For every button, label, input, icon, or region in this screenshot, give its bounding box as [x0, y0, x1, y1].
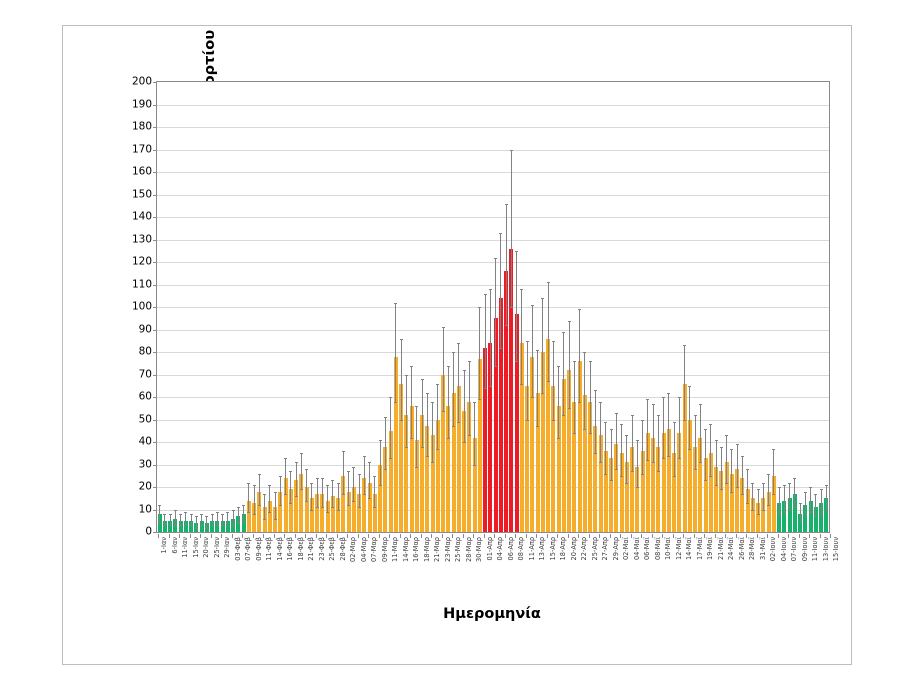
error-bar [353, 467, 354, 501]
error-bar [248, 483, 249, 512]
x-tick-mark [788, 534, 789, 538]
x-tick-mark [211, 534, 212, 538]
error-bar-cap-lower [237, 523, 240, 524]
x-tick-mark [452, 534, 453, 538]
x-tick-mark [515, 534, 516, 538]
error-bar-cap-lower [673, 476, 676, 477]
error-bar-cap-lower [515, 361, 518, 362]
error-bar-cap-upper [289, 471, 292, 472]
error-bar-cap-lower [158, 523, 161, 524]
error-bar-cap-upper [268, 485, 271, 486]
x-tick-mark [347, 534, 348, 538]
x-tick-mark [442, 534, 443, 538]
error-bar-cap-upper [568, 321, 571, 322]
error-bar-cap-lower [767, 505, 770, 506]
x-tick-label: 19-Μαϊ [707, 537, 714, 560]
error-bar-cap-lower [720, 489, 723, 490]
error-bar [243, 505, 244, 521]
error-bar [527, 341, 528, 420]
error-bar-cap-lower [604, 474, 607, 475]
error-bar-cap-lower [599, 462, 602, 463]
x-tick-mark [242, 534, 243, 538]
error-bar [506, 204, 507, 326]
error-bar-cap-upper [384, 417, 387, 418]
error-bar-cap-upper [174, 510, 177, 511]
x-tick-label: 16-Φεβ [287, 537, 294, 561]
error-bar-cap-lower [373, 507, 376, 508]
error-bar [710, 424, 711, 476]
x-tick-mark [620, 534, 621, 538]
error-bar [737, 444, 738, 487]
error-bar-cap-upper [589, 361, 592, 362]
error-bar [437, 384, 438, 449]
x-tick-label: 18-Μαρ [424, 537, 431, 562]
x-tick-mark [169, 534, 170, 538]
y-tick-label: 40 [118, 437, 152, 448]
error-bar-cap-upper [400, 339, 403, 340]
error-bar [621, 424, 622, 476]
error-bar-cap-upper [736, 444, 739, 445]
x-tick-label: 04-Μαϊ [634, 537, 641, 560]
error-bar-cap-lower [489, 386, 492, 387]
bar-group [824, 82, 829, 532]
x-tick-label: 18-Φεβ [298, 537, 305, 561]
x-tick-mark [757, 534, 758, 538]
error-bar-cap-lower [321, 507, 324, 508]
y-tick-mark [153, 532, 157, 533]
x-tick-mark [578, 534, 579, 538]
x-tick-mark [715, 534, 716, 538]
error-bar [521, 289, 522, 384]
x-tick-label: 25-Ιαν [214, 537, 221, 558]
error-bar-cap-upper [216, 512, 219, 513]
error-bar [479, 307, 480, 399]
error-bar-cap-lower [205, 528, 208, 529]
error-bar-cap-upper [431, 402, 434, 403]
error-bar-cap-lower [741, 494, 744, 495]
error-bar [800, 503, 801, 521]
error-bar-cap-lower [300, 489, 303, 490]
x-tick-mark [526, 534, 527, 538]
x-tick-mark [746, 534, 747, 538]
error-bar [411, 366, 412, 438]
error-bar-cap-lower [736, 487, 739, 488]
error-bar-cap-lower [568, 408, 571, 409]
error-bar-cap-lower [772, 494, 775, 495]
error-bar [311, 483, 312, 510]
error-bar-cap-lower [520, 384, 523, 385]
error-bar-cap-upper [557, 366, 560, 367]
error-bar-cap-upper [809, 487, 812, 488]
error-bar-cap-upper [389, 397, 392, 398]
error-bar [684, 345, 685, 419]
error-bar-cap-upper [169, 514, 172, 515]
error-bar [159, 505, 160, 523]
x-tick-label: 04-Ιουν [781, 537, 788, 561]
error-bar [332, 480, 333, 507]
error-bar [579, 309, 580, 401]
error-bar [700, 404, 701, 463]
error-bar-cap-lower [636, 487, 639, 488]
error-bar [595, 390, 596, 453]
error-bar [726, 435, 727, 482]
error-bar [668, 393, 669, 456]
error-bar [632, 415, 633, 471]
error-bar-cap-upper [316, 478, 319, 479]
error-bar-cap-upper [442, 327, 445, 328]
error-bar-cap-upper [788, 483, 791, 484]
error-bar-cap-lower [825, 510, 828, 511]
x-tick-mark [536, 534, 537, 538]
error-bar-cap-upper [688, 386, 691, 387]
bar-series [157, 82, 829, 532]
error-bar [306, 469, 307, 501]
error-bar-cap-upper [447, 366, 450, 367]
x-tick-mark [232, 534, 233, 538]
error-bar [821, 489, 822, 514]
error-bar [695, 415, 696, 469]
x-tick-label: 27-Απρ [602, 537, 609, 560]
error-bar-cap-lower [730, 492, 733, 493]
error-bar [584, 352, 585, 429]
error-bar-cap-lower [699, 462, 702, 463]
x-tick-mark [778, 534, 779, 538]
error-bar-cap-upper [547, 282, 550, 283]
x-tick-label: 24-Μαϊ [728, 537, 735, 560]
error-bar [826, 485, 827, 510]
error-bar-cap-upper [757, 489, 760, 490]
error-bar-cap-upper [699, 404, 702, 405]
error-bar-cap-upper [772, 449, 775, 450]
error-bar-cap-upper [394, 303, 397, 304]
error-bar-cap-upper [457, 343, 460, 344]
x-tick-mark [673, 534, 674, 538]
x-tick-label: 03-Φεβ [235, 537, 242, 561]
error-bar-cap-upper [562, 332, 565, 333]
error-bar [301, 453, 302, 489]
x-tick-label: 21-Μαρ [434, 537, 441, 562]
error-bar-cap-upper [804, 492, 807, 493]
error-bar-cap-lower [751, 510, 754, 511]
error-bar-cap-upper [221, 514, 224, 515]
error-bar-cap-upper [342, 451, 345, 452]
error-bar [432, 402, 433, 463]
x-tick-label: 09-Φεβ [256, 537, 263, 561]
x-tick-mark [568, 534, 569, 538]
x-tick-label: 06-Απρ [508, 537, 515, 560]
error-bar-cap-upper [704, 429, 707, 430]
error-bar-cap-lower [305, 501, 308, 502]
x-tick-mark [253, 534, 254, 538]
x-tick-mark [694, 534, 695, 538]
x-tick-mark [158, 534, 159, 538]
error-bar-cap-lower [431, 462, 434, 463]
error-bar-cap-lower [447, 438, 450, 439]
x-tick-mark [641, 534, 642, 538]
error-bar [280, 476, 281, 505]
x-tick-label: 07-Ιουν [791, 537, 798, 561]
error-bar [395, 303, 396, 402]
error-bar-cap-upper [310, 483, 313, 484]
error-bar-cap-upper [494, 258, 497, 259]
x-tick-mark [599, 534, 600, 538]
x-tick-label: 25-Μαρ [455, 537, 462, 562]
error-bar-cap-lower [174, 525, 177, 526]
error-bar [458, 343, 459, 422]
error-bar [574, 361, 575, 433]
x-tick-mark [358, 534, 359, 538]
x-tick-mark [368, 534, 369, 538]
error-bar-cap-lower [783, 512, 786, 513]
error-bar-cap-lower [709, 476, 712, 477]
error-bar-cap-lower [531, 397, 534, 398]
x-tick-label: 10-Μαϊ [665, 537, 672, 560]
x-tick-mark [431, 534, 432, 538]
x-tick-mark [421, 534, 422, 538]
error-bar-cap-lower [499, 348, 502, 349]
x-tick-mark [410, 534, 411, 538]
error-bar [810, 487, 811, 512]
error-bar-cap-upper [211, 514, 214, 515]
error-bar-cap-lower [662, 458, 665, 459]
x-tick-mark [610, 534, 611, 538]
x-tick-label: 02-Ιουν [770, 537, 777, 561]
x-tick-label: 08-Μαϊ [655, 537, 662, 560]
error-bar [217, 512, 218, 526]
x-tick-mark [274, 534, 275, 538]
error-bar-cap-upper [520, 289, 523, 290]
error-bar-cap-lower [778, 514, 781, 515]
error-bar-cap-upper [274, 492, 277, 493]
plot-area: 0102030405060708090100110120130140150160… [156, 81, 830, 533]
error-bar-cap-upper [468, 361, 471, 362]
error-bar-cap-lower [704, 480, 707, 481]
error-bar [359, 474, 360, 508]
x-tick-mark [179, 534, 180, 538]
error-bar-cap-lower [694, 469, 697, 470]
error-bar-cap-lower [274, 519, 277, 520]
error-bar-cap-upper [190, 514, 193, 515]
error-bar-cap-lower [809, 512, 812, 513]
error-bar [422, 379, 423, 447]
error-bar [343, 451, 344, 494]
error-bar [548, 282, 549, 381]
error-bar [416, 406, 417, 467]
error-bar-cap-lower [746, 503, 749, 504]
error-bar-cap-lower [295, 496, 298, 497]
error-bar-cap-upper [489, 289, 492, 290]
error-bar [742, 456, 743, 494]
error-bar-cap-upper [358, 474, 361, 475]
error-bar-cap-lower [347, 505, 350, 506]
x-tick-label: 14-Μαϊ [686, 537, 693, 560]
x-tick-label: 28-Μαρ [466, 537, 473, 562]
error-bar-cap-lower [562, 415, 565, 416]
error-bar-cap-upper [258, 474, 261, 475]
error-bar-cap-lower [190, 525, 193, 526]
error-bar-cap-upper [762, 483, 765, 484]
error-bar-cap-lower [337, 510, 340, 511]
error-bar-cap-upper [205, 516, 208, 517]
error-bar [500, 233, 501, 348]
error-bar-cap-lower [494, 366, 497, 367]
x-tick-mark [337, 534, 338, 538]
x-tick-mark [767, 534, 768, 538]
error-bar-cap-lower [263, 519, 266, 520]
x-tick-mark [221, 534, 222, 538]
error-bar [716, 440, 717, 485]
error-bar [485, 294, 486, 389]
y-tick-label: 80 [118, 347, 152, 358]
error-bar-cap-upper [331, 480, 334, 481]
error-bar [170, 514, 171, 525]
x-tick-mark [473, 534, 474, 538]
x-tick-label: 29-Απρ [613, 537, 620, 560]
x-tick-mark [305, 534, 306, 538]
error-bar-cap-upper [641, 420, 644, 421]
error-bar [474, 402, 475, 465]
y-tick-label: 110 [118, 279, 152, 290]
error-bar [348, 471, 349, 505]
error-bar-cap-lower [505, 325, 508, 326]
error-bar [369, 462, 370, 498]
y-tick-label: 170 [118, 144, 152, 155]
error-bar-cap-lower [394, 402, 397, 403]
error-bar-cap-upper [452, 352, 455, 353]
error-bar-cap-lower [410, 438, 413, 439]
error-bar-cap-lower [589, 433, 592, 434]
error-bar-cap-upper [583, 352, 586, 353]
error-bar-cap-lower [573, 433, 576, 434]
error-bar [626, 435, 627, 482]
error-bar-cap-lower [578, 402, 581, 403]
x-tick-mark [662, 534, 663, 538]
error-bar-cap-upper [678, 397, 681, 398]
error-bar-cap-upper [321, 478, 324, 479]
error-bar-cap-upper [237, 507, 240, 508]
error-bar-cap-upper [478, 307, 481, 308]
x-tick-label: 28-Φεβ [340, 537, 347, 561]
error-bar [164, 514, 165, 525]
error-bar-cap-lower [284, 494, 287, 495]
x-tick-label: 29-Ιαν [224, 537, 231, 558]
error-bar [763, 483, 764, 510]
error-bar [406, 375, 407, 447]
error-bar-cap-lower [310, 510, 313, 511]
x-tick-mark [631, 534, 632, 538]
error-bar-cap-upper [783, 485, 786, 486]
error-bar-cap-lower [725, 483, 728, 484]
x-tick-label: 11-Ιουν [812, 537, 819, 561]
x-tick-mark [326, 534, 327, 538]
error-bar-cap-lower [442, 411, 445, 412]
x-tick-mark [295, 534, 296, 538]
error-bar [663, 397, 664, 458]
x-tick-label: 13-Απρ [539, 537, 546, 560]
x-tick-mark [683, 534, 684, 538]
error-bar-cap-upper [379, 440, 382, 441]
error-bar-cap-upper [715, 440, 718, 441]
x-tick-label: 23-Φεβ [319, 537, 326, 561]
x-tick-label: 14-Φεβ [277, 537, 284, 561]
x-tick-mark [484, 534, 485, 538]
error-bar-cap-upper [657, 415, 660, 416]
error-bar-cap-lower [541, 393, 544, 394]
error-bar-cap-lower [169, 525, 172, 526]
error-bar [752, 483, 753, 510]
x-tick-label: 04-Μαρ [361, 537, 368, 562]
error-bar-cap-upper [410, 366, 413, 367]
error-bar-cap-upper [179, 514, 182, 515]
error-bar-cap-lower [788, 510, 791, 511]
error-bar [212, 514, 213, 525]
y-tick-label: 190 [118, 99, 152, 110]
error-bar [773, 449, 774, 494]
error-bar-cap-lower [268, 512, 271, 513]
x-axis-tick-labels: 1-Ιαν6-Ιαν11-Ιαν15-Ιαν20-Ιαν25-Ιαν29-Ιαν… [156, 534, 828, 586]
error-bar-cap-upper [421, 379, 424, 380]
error-bar [448, 366, 449, 438]
error-bar [364, 456, 365, 494]
error-bar-cap-lower [625, 483, 628, 484]
y-tick-label: 60 [118, 392, 152, 403]
error-bar [469, 361, 470, 435]
y-tick-label: 100 [118, 302, 152, 313]
x-tick-label: 11-Απρ [529, 537, 536, 560]
error-bar-cap-lower [667, 456, 670, 457]
error-bar-cap-lower [468, 435, 471, 436]
error-bar-cap-lower [657, 471, 660, 472]
x-tick-label: 09-Μαρ [382, 537, 389, 562]
error-bar [269, 485, 270, 512]
x-tick-label: 22-Απρ [581, 537, 588, 560]
x-tick-label: 20-Ιαν [203, 537, 210, 558]
x-tick-mark [463, 534, 464, 538]
error-bar-cap-lower [678, 458, 681, 459]
error-bar-cap-upper [620, 424, 623, 425]
x-tick-label: 23-Μαρ [445, 537, 452, 562]
error-bar-cap-lower [216, 525, 219, 526]
error-bar [805, 492, 806, 515]
error-bar [185, 512, 186, 526]
error-bar [558, 366, 559, 438]
error-bar-cap-upper [646, 399, 649, 400]
x-axis-title: Ημερομηνία [156, 606, 828, 622]
error-bar [553, 341, 554, 420]
error-bar [227, 512, 228, 526]
error-bar [637, 440, 638, 487]
y-tick-label: 180 [118, 122, 152, 133]
error-bar-cap-upper [820, 489, 823, 490]
error-bar [679, 397, 680, 458]
error-bar [427, 393, 428, 456]
x-tick-label: 07-Φεβ [245, 537, 252, 561]
error-bar-cap-lower [615, 469, 618, 470]
x-tick-mark [589, 534, 590, 538]
error-bar-cap-upper [531, 305, 534, 306]
error-bar-cap-lower [683, 420, 686, 421]
error-bar-cap-upper [746, 469, 749, 470]
error-bar-cap-upper [232, 510, 235, 511]
error-bar-cap-upper [662, 397, 665, 398]
error-bar-cap-upper [499, 233, 502, 234]
error-bar [758, 489, 759, 514]
error-bar-cap-upper [673, 422, 676, 423]
error-bar-cap-upper [373, 476, 376, 477]
error-bar-cap-lower [478, 399, 481, 400]
y-tick-label: 20 [118, 482, 152, 493]
error-bar-cap-lower [331, 507, 334, 508]
